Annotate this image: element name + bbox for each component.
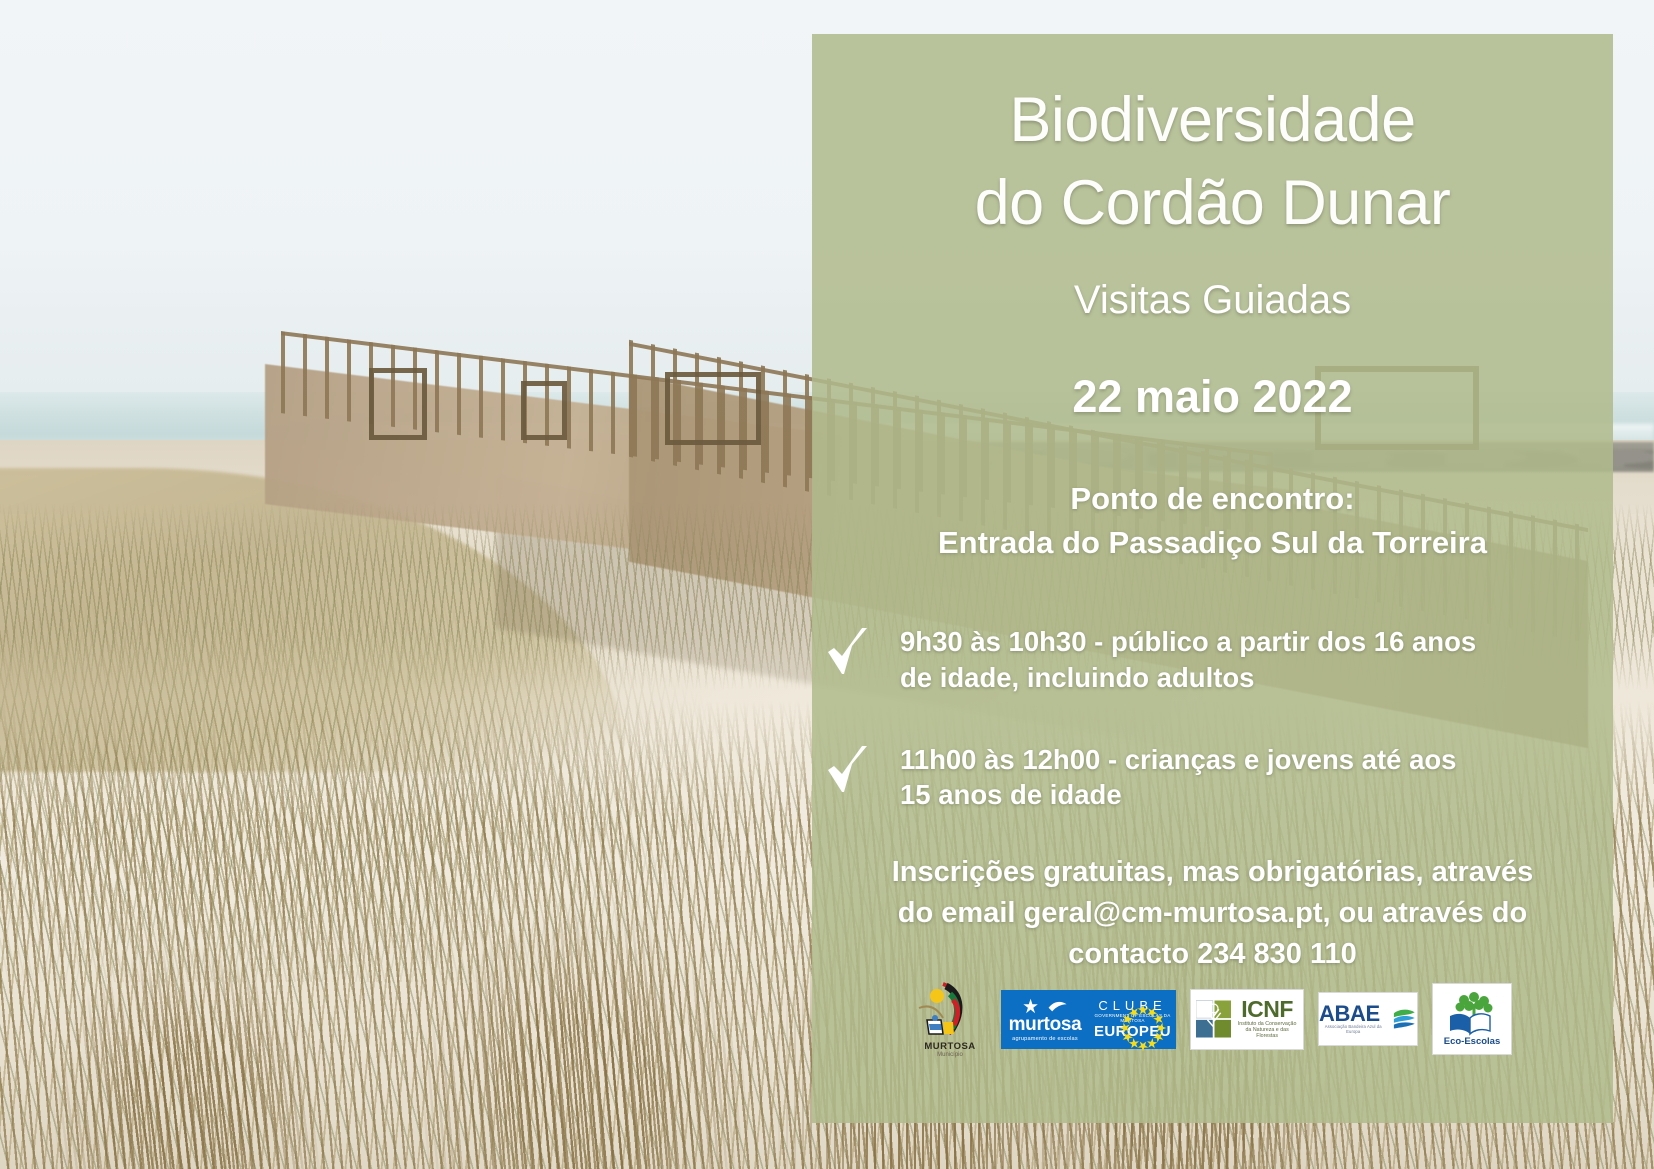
murtosa-logo-subtext: Município	[937, 1052, 963, 1058]
agrupamento-murtosa-mark: murtosa agrupamento de escolas	[1001, 997, 1089, 1042]
agrupamento-subtitle: agrupamento de escolas	[1012, 1036, 1078, 1042]
eu-stars-icon	[1114, 1001, 1172, 1055]
registration-line3: contacto 234 830 110	[834, 934, 1591, 975]
meeting-point-place: Entrada do Passadiço Sul da Torreira	[812, 521, 1613, 565]
eco-escolas-label: Eco-Escolas	[1444, 1036, 1501, 1047]
session-text: 11h00 às 12h00 - crianças e jovens até a…	[900, 736, 1456, 814]
boardwalk-gate-frame	[521, 381, 567, 440]
agrupamento-name: murtosa	[1009, 1015, 1082, 1034]
eco-escolas-book-tree-icon	[1448, 992, 1496, 1038]
grass-clump	[19, 853, 344, 1169]
registration-info: Inscrições gratuitas, mas obrigatórias, …	[834, 852, 1591, 976]
registration-line1: Inscrições gratuitas, mas obrigatórias, …	[834, 852, 1591, 893]
session-line1: 11h00 às 12h00 - crianças e jovens até a…	[900, 744, 1456, 775]
icnf-acronym: ICNF	[1236, 999, 1298, 1021]
poster-subtitle: Visitas Guiadas	[812, 278, 1613, 323]
session-item: 9h30 às 10h30 - público a partir dos 16 …	[822, 618, 1591, 696]
session-text: 9h30 às 10h30 - público a partir dos 16 …	[900, 618, 1476, 696]
partner-logo-row: MURTOSA Município murtosa agrupamento de…	[812, 977, 1613, 1061]
icnf-tree-grid-icon	[1196, 999, 1231, 1039]
abae-subtitle: Associação Bandeira Azul da Europa	[1319, 1024, 1387, 1034]
registration-line2: do email geral@cm-murtosa.pt, ou através…	[834, 893, 1591, 934]
murtosa-logo-text: MURTOSA	[924, 1042, 975, 1052]
poster-canvas: Passadiço de madeira sobre o cordão duna…	[0, 0, 1654, 1169]
poster-title-line2: do Cordão Dunar	[812, 169, 1613, 237]
information-panel: Biodiversidade do Cordão Dunar Visitas G…	[812, 34, 1613, 1123]
abae-acronym: ABAE	[1319, 1004, 1380, 1025]
event-date: 22 maio 2022	[812, 371, 1613, 423]
agrupamento-murtosa-clube-europeu-logo: murtosa agrupamento de escolas CLUBE GOV…	[1001, 990, 1176, 1049]
session-line2: 15 anos de idade	[900, 779, 1122, 810]
session-line1: 9h30 às 10h30 - público a partir dos 16 …	[900, 626, 1476, 657]
icnf-subtitle-2: da Natureza e das Florestas	[1236, 1027, 1298, 1039]
clube-europeu-mark: CLUBE GOVERNMENT OF ESCOLAS DA MURTOSA E…	[1089, 999, 1176, 1039]
session-item: 11h00 às 12h00 - crianças e jovens até a…	[822, 736, 1591, 814]
check-icon	[822, 622, 884, 684]
check-icon	[822, 740, 884, 802]
meeting-point-label: Ponto de encontro:	[812, 477, 1613, 521]
boardwalk-gate-frame	[369, 368, 427, 440]
abae-waves-icon	[1392, 1006, 1417, 1032]
poster-title-line1: Biodiversidade	[812, 86, 1613, 154]
meeting-point-block: Ponto de encontro: Entrada do Passadiço …	[812, 477, 1613, 565]
session-line2: de idade, incluindo adultos	[900, 662, 1254, 693]
eco-escolas-logo: Eco-Escolas	[1432, 983, 1512, 1055]
murtosa-municipality-logo: MURTOSA Município	[913, 977, 987, 1061]
abae-logo: ABAE Associação Bandeira Azul da Europa	[1318, 992, 1418, 1046]
star-bird-icon	[1015, 997, 1075, 1015]
boardwalk-gate-frame	[665, 372, 761, 445]
grass-clump	[387, 809, 770, 1169]
murtosa-emblem-icon	[913, 980, 987, 1042]
session-list: 9h30 às 10h30 - público a partir dos 16 …	[822, 618, 1591, 853]
icnf-logo: ICNF Instituto da Conservação da Naturez…	[1190, 989, 1304, 1050]
